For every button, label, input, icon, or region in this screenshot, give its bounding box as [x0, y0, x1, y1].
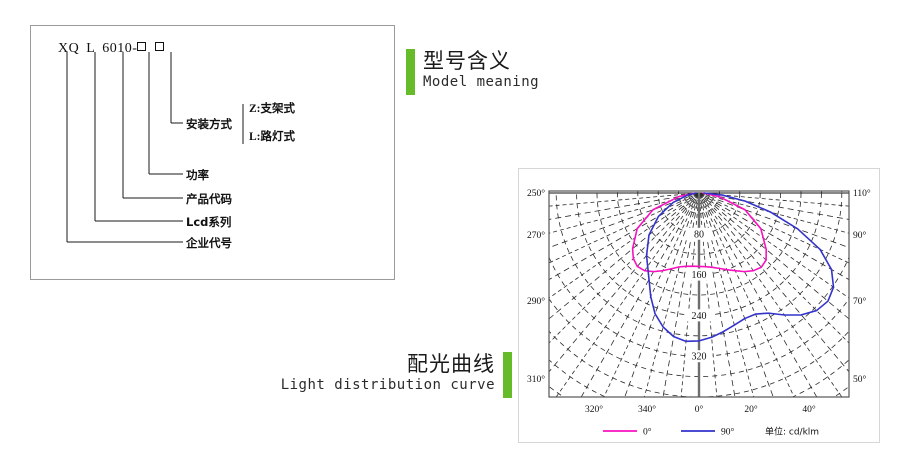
svg-text:320: 320	[692, 352, 707, 363]
curve-heading-cn: 配光曲线	[407, 348, 495, 378]
svg-text:240: 240	[692, 311, 707, 322]
svg-text:20°: 20°	[744, 404, 758, 415]
svg-text:0°: 0°	[695, 404, 704, 415]
model-heading-cn: 型号含义	[423, 45, 511, 75]
page-root: XQL6010-	[0, 0, 897, 475]
light-curve-heading: 配光曲线 Light distribution curve	[272, 350, 512, 405]
left-angle-labels: 250°270°290°310°	[527, 188, 545, 385]
bottom-angle-labels: 320°340°0°20°40°	[585, 404, 816, 415]
curve-heading-en: Light distribution curve	[281, 377, 495, 393]
svg-text:340°: 340°	[638, 404, 656, 415]
svg-text:310°: 310°	[527, 374, 545, 385]
svg-text:160: 160	[692, 270, 707, 281]
svg-text:290°: 290°	[527, 296, 545, 307]
accent-bar-icon	[503, 352, 512, 398]
legend-unit-label: 单位: cd/klm	[765, 426, 819, 438]
legend-label: 0°	[643, 427, 652, 438]
right-angle-labels: 110°90°70°50°	[853, 188, 871, 385]
light-distribution-chart: 80160240320 250°270°290°310° 110°90°70°5…	[518, 168, 880, 443]
svg-text:270°: 270°	[527, 230, 545, 241]
legend-label: 90°	[721, 427, 735, 438]
callout-option-streetlight: L:路灯式	[249, 128, 295, 144]
polar-chart-svg: 80160240320 250°270°290°310° 110°90°70°5…	[519, 169, 879, 442]
chart-legend: 0°90°单位: cd/klm	[603, 426, 819, 438]
callout-label-mounting: 安装方式	[186, 116, 232, 132]
callout-option-bracket: Z:支架式	[249, 100, 295, 116]
svg-text:250°: 250°	[527, 188, 545, 199]
accent-bar-icon	[406, 49, 415, 95]
model-meaning-heading: 型号含义 Model meaning	[406, 47, 610, 102]
callout-label-power: 功率	[186, 167, 209, 183]
svg-text:90°: 90°	[853, 230, 867, 241]
callout-label-company-code: 企业代号	[186, 235, 232, 251]
svg-text:320°: 320°	[585, 404, 603, 415]
model-meaning-diagram: XQL6010-	[30, 25, 395, 280]
svg-text:70°: 70°	[853, 296, 867, 307]
model-heading-en: Model meaning	[423, 74, 539, 90]
callout-label-product-code: 产品代码	[186, 191, 232, 207]
svg-text:50°: 50°	[853, 374, 867, 385]
svg-text:110°: 110°	[853, 188, 871, 199]
callout-label-lcd-series: Lcd系列	[186, 214, 231, 230]
svg-text:40°: 40°	[802, 404, 816, 415]
svg-text:80: 80	[694, 229, 704, 240]
